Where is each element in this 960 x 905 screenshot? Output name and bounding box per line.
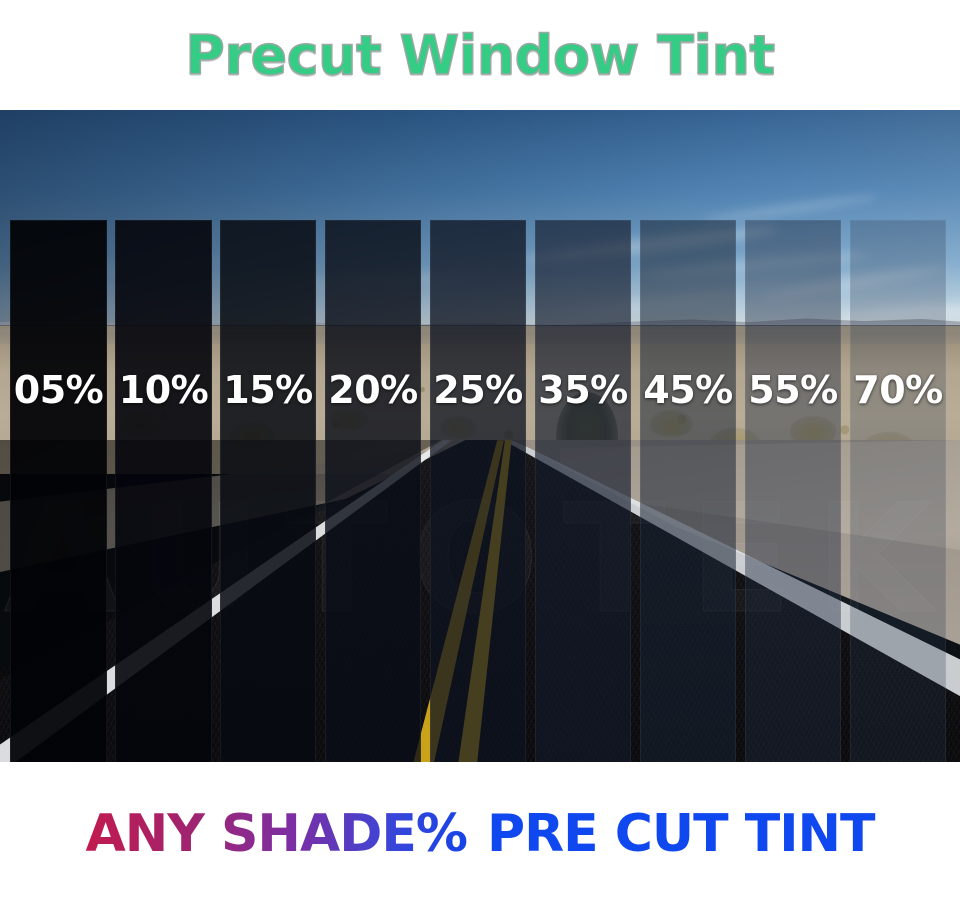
tint-strip-label: 70% [853,368,942,412]
background-photo: AUTOTEK 05%10%15%20%25%35%45%55%70% [0,110,960,762]
tint-strip-15[interactable]: 15% [220,220,316,762]
page-title: Precut Window Tint [185,24,774,87]
footer-any-shade: ANY SHADE% [85,804,467,864]
tint-chart-graphic: Precut Window Tint [0,0,960,905]
tint-strip-label: 45% [643,368,732,412]
tint-strip-label: 35% [538,368,627,412]
tint-strip-label: 55% [748,368,837,412]
footer-pre-cut-tint: PRE CUT TINT [487,804,875,864]
tint-strip-5[interactable]: 05% [10,220,107,762]
tint-strip-label: 05% [14,368,103,412]
tint-strip-label: 25% [433,368,522,412]
title-bar: Precut Window Tint [0,0,960,110]
tint-strip-35[interactable]: 35% [535,220,631,762]
tint-strip-70[interactable]: 70% [850,220,946,762]
tint-strip-10[interactable]: 10% [115,220,212,762]
tint-strip-label: 20% [328,368,417,412]
tint-strip-45[interactable]: 45% [640,220,736,762]
footer-tagline: ANY SHADE% PRE CUT TINT [85,804,874,864]
tint-strip-label: 15% [223,368,312,412]
tint-strip-25[interactable]: 25% [430,220,526,762]
tint-strip-row: 05%10%15%20%25%35%45%55%70% [0,220,960,762]
footer-bar: ANY SHADE% PRE CUT TINT [0,762,960,905]
tint-strip-label: 10% [119,368,208,412]
tint-strip-20[interactable]: 20% [325,220,421,762]
tint-strip-55[interactable]: 55% [745,220,841,762]
